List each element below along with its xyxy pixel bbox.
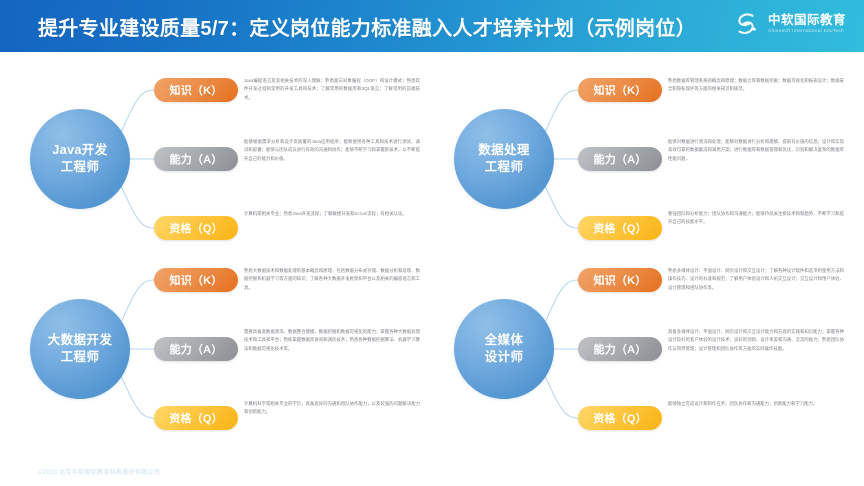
badge-ability[interactable]: 能力（A）	[154, 337, 238, 361]
badge-qualification[interactable]: 资格（Q）	[578, 406, 662, 430]
role-name-line1: 全媒体	[485, 332, 524, 349]
badge-ability[interactable]: 能力（A）	[578, 337, 662, 361]
role-cluster-java: Java开发 工程师 知识（K） 能力（A） 资格（Q） Java编程语言及其相…	[8, 64, 428, 254]
badge-qualification[interactable]: 资格（Q）	[154, 216, 238, 240]
role-name-line2: 工程师	[485, 159, 524, 176]
badge-knowledge[interactable]: 知识（K）	[154, 268, 238, 292]
badge-ability[interactable]: 能力（A）	[154, 147, 238, 171]
knowledge-description: 熟悉多媒体设计、平面设计、网页设计和交互设计；了解各种设计软件和选项的使用方法和…	[668, 267, 844, 292]
slide-body: Java开发 工程师 知识（K） 能力（A） 资格（Q） Java编程语言及其相…	[0, 52, 864, 456]
role-name-line1: 大数据开发	[48, 332, 113, 349]
role-name-line1: 数据处理	[478, 142, 530, 159]
brand-name-cn: 中软国际教育	[768, 14, 846, 27]
role-cluster-data-processing: 数据处理 工程师 知识（K） 能力（A） 资格（Q） 熟悉数据库管理系统的概念和…	[432, 64, 852, 254]
knowledge-description: 熟悉大数据技术和数据处理的基本概念和原理，包括数据分布式存储、数据分析和处理、数…	[244, 267, 420, 292]
ability-description: 能够根据需求分析和设计高质量的Java应用程序；能够使用各种工具和技术进行测试、…	[244, 138, 420, 163]
badge-knowledge[interactable]: 知识（K）	[578, 78, 662, 102]
ability-description: 需要具备高数据清洗、数据整合建模、数据挖掘和数据可视化的能力；掌握各种大数据处理…	[244, 328, 420, 353]
ability-description: 能够对数据进行清洗和处理；能够对数据进行分析和建模、提取有价值的信息；设计和实现…	[668, 138, 844, 163]
knowledge-description: 熟悉数据库管理系统的概念和原理；数据仓库和数据挖掘；数据可视化和报表设计；数据安…	[668, 77, 844, 94]
badge-qualification[interactable]: 资格（Q）	[154, 406, 238, 430]
role-cluster-bigdata: 大数据开发 工程师 知识（K） 能力（A） 资格（Q） 熟悉大数据技术和数据处理…	[8, 254, 428, 444]
chinasoft-swirl-logo-icon	[731, 9, 761, 39]
slide-root: 提升专业建设质量5/7：定义岗位能力标准融入人才培养计划（示例岗位） 中软国际教…	[0, 0, 864, 486]
badge-knowledge[interactable]: 知识（K）	[578, 268, 662, 292]
qualification-description: 计算机科学或相关专业的学历，具备良好的沟通和团队协作能力，以及较强的问题解决能力…	[244, 400, 420, 417]
ability-description: 具备多媒体设计、平面设计、网页设计和交互设计能力和方面的实践和知识能力；掌握各种…	[668, 328, 844, 353]
knowledge-description: Java编程语言及其相关技术的深入理解；熟悉面向对象编程（OOP）和设计模式；熟…	[244, 77, 420, 102]
badge-qualification[interactable]: 资格（Q）	[578, 216, 662, 240]
brand-logo-text: 中软国际教育 Chinasoft International EduTech	[768, 14, 846, 34]
badge-ability[interactable]: 能力（A）	[578, 147, 662, 171]
role-circle[interactable]: 数据处理 工程师	[454, 109, 554, 209]
role-cluster-omnimedia-designer: 全媒体 设计师 知识（K） 能力（A） 资格（Q） 熟悉多媒体设计、平面设计、网…	[432, 254, 852, 444]
qualification-description: 计算机或相关专业；熟悉Java开发流程；了解敏捷开发和Scrum流程；有相关认证…	[244, 210, 420, 218]
role-circle[interactable]: 大数据开发 工程师	[30, 299, 130, 399]
badge-knowledge[interactable]: 知识（K）	[154, 78, 238, 102]
page-title: 提升专业建设质量5/7：定义岗位能力标准融入人才培养计划（示例岗位）	[38, 12, 696, 41]
role-name-line2: 工程师	[61, 349, 100, 366]
slide-header: 提升专业建设质量5/7：定义岗位能力标准融入人才培养计划（示例岗位） 中软国际教…	[0, 0, 864, 52]
qualification-description: 能够独立完成设计和制作任务；团队协作和沟通能力；创新能力和学习能力。	[668, 400, 844, 408]
brand-logo: 中软国际教育 Chinasoft International EduTech	[731, 9, 846, 39]
role-name-line1: Java开发	[52, 142, 107, 159]
role-circle[interactable]: Java开发 工程师	[30, 109, 130, 209]
slide-footer: ©2023 北京中软国际教育科技股份有限公司	[0, 456, 864, 486]
brand-name-en: Chinasoft International EduTech	[768, 29, 846, 34]
role-circle[interactable]: 全媒体 设计师	[454, 299, 554, 399]
role-name-line2: 工程师	[61, 159, 100, 176]
qualification-description: 要强团队和分析能力；团队协作和沟通能力；能够持续关注新技术和新趋势、不断学习和提…	[668, 210, 844, 227]
copyright-text: ©2023 北京中软国际教育科技股份有限公司	[38, 467, 160, 476]
role-name-line2: 设计师	[485, 349, 524, 366]
